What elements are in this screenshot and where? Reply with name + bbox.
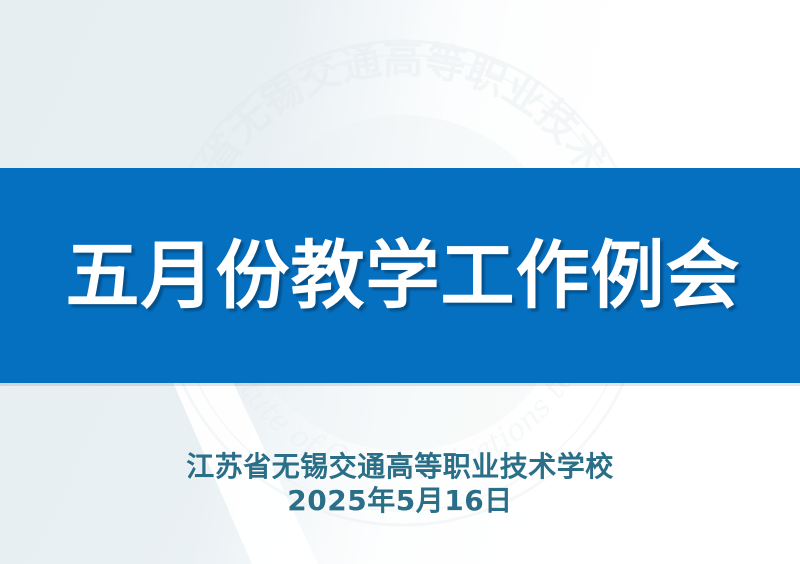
title-band-shadow [0,383,800,386]
footer-date: 2025年5月16日 [0,484,800,518]
slide-canvas: 江苏省无锡交通高等职业技术学院 Wuxi Institute of Commun… [0,0,800,564]
page-title: 五月份教学工作例会 [0,168,800,383]
footer-organization: 江苏省无锡交通高等职业技术学校 [0,450,800,484]
footer-block: 江苏省无锡交通高等职业技术学校 2025年5月16日 [0,450,800,518]
